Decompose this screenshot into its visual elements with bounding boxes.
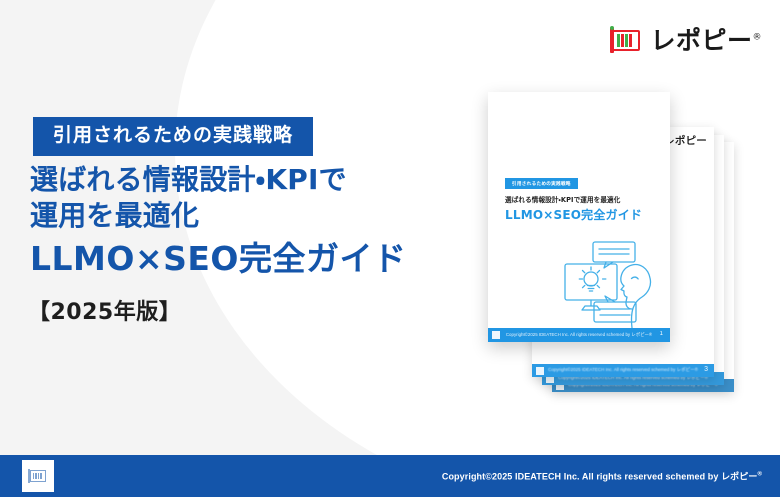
document-cover-sheet: 引用されるための実践戦略 選ばれる情報設計・KPIで運用を最適化 LLMO×SE… <box>488 92 670 342</box>
cover-footer-bar: Copyright©2025 IDEATECH Inc. All rights … <box>488 328 670 342</box>
cover-footer-mark-icon <box>492 331 500 339</box>
document-cover-content: 引用されるための実践戦略 選ばれる情報設計・KPIで運用を最適化 LLMO×SE… <box>488 92 670 342</box>
hero-edition: 【2025年版】 <box>28 294 181 326</box>
hero-headline-line1: 選ばれる情報設計・KPIで <box>30 163 347 196</box>
sheet-footer-copyright: Copyright©2025 IDEATECH Inc. All rights … <box>548 367 698 373</box>
brand-name: レポピー <box>650 26 752 55</box>
hero-badge: 引用されるための実践戦略 <box>33 117 313 156</box>
slide-canvas: レポピー® 引用されるための実践戦略 選ばれる情報設計・KPIで 運用を最適化 … <box>0 0 780 497</box>
cover-title: LLMO×SEO完全ガイド <box>505 206 642 223</box>
footer-trademark: ® <box>757 472 762 478</box>
sheet-page-number: 3 <box>704 366 708 373</box>
reppy-scroll-icon <box>609 29 643 53</box>
cover-footer-copyright: Copyright©2025 IDEATECH Inc. All rights … <box>506 332 652 338</box>
brand-logo-text: レポピー® <box>650 28 762 53</box>
page-footer: Copyright©2025 IDEATECH Inc. All rights … <box>0 455 780 497</box>
document-preview-stack: Copyright©2025 IDEATECH Inc. All rights … <box>470 80 780 410</box>
cover-subtitle: 選ばれる情報設計・KPIで運用を最適化 <box>505 194 620 204</box>
brand-logo: レポピー® <box>609 28 762 53</box>
sheet-brand-name: レポピー <box>664 135 707 146</box>
cover-page-number: 1 <box>660 331 663 337</box>
footer-copyright-text: Copyright©2025 IDEATECH Inc. All rights … <box>442 472 758 482</box>
footer-logo-badge <box>22 460 54 492</box>
sheet-footer-bar: Copyright©2025 IDEATECH Inc. All rights … <box>532 364 714 377</box>
cover-illustration <box>560 240 670 328</box>
footer-copyright: Copyright©2025 IDEATECH Inc. All rights … <box>442 470 762 483</box>
cover-badge: 引用されるための実践戦略 <box>505 178 578 189</box>
hero-headline: 選ばれる情報設計・KPIで 運用を最適化 LLMO×SEO完全ガイド <box>30 162 460 281</box>
brand-trademark: ® <box>753 33 763 43</box>
hero-headline-line2: 運用を最適化 <box>30 199 199 232</box>
sheet-footer-mark-icon <box>536 367 544 375</box>
hero-headline-big: LLMO×SEO完全ガイド <box>30 238 460 281</box>
reppy-mark-icon <box>28 469 48 483</box>
